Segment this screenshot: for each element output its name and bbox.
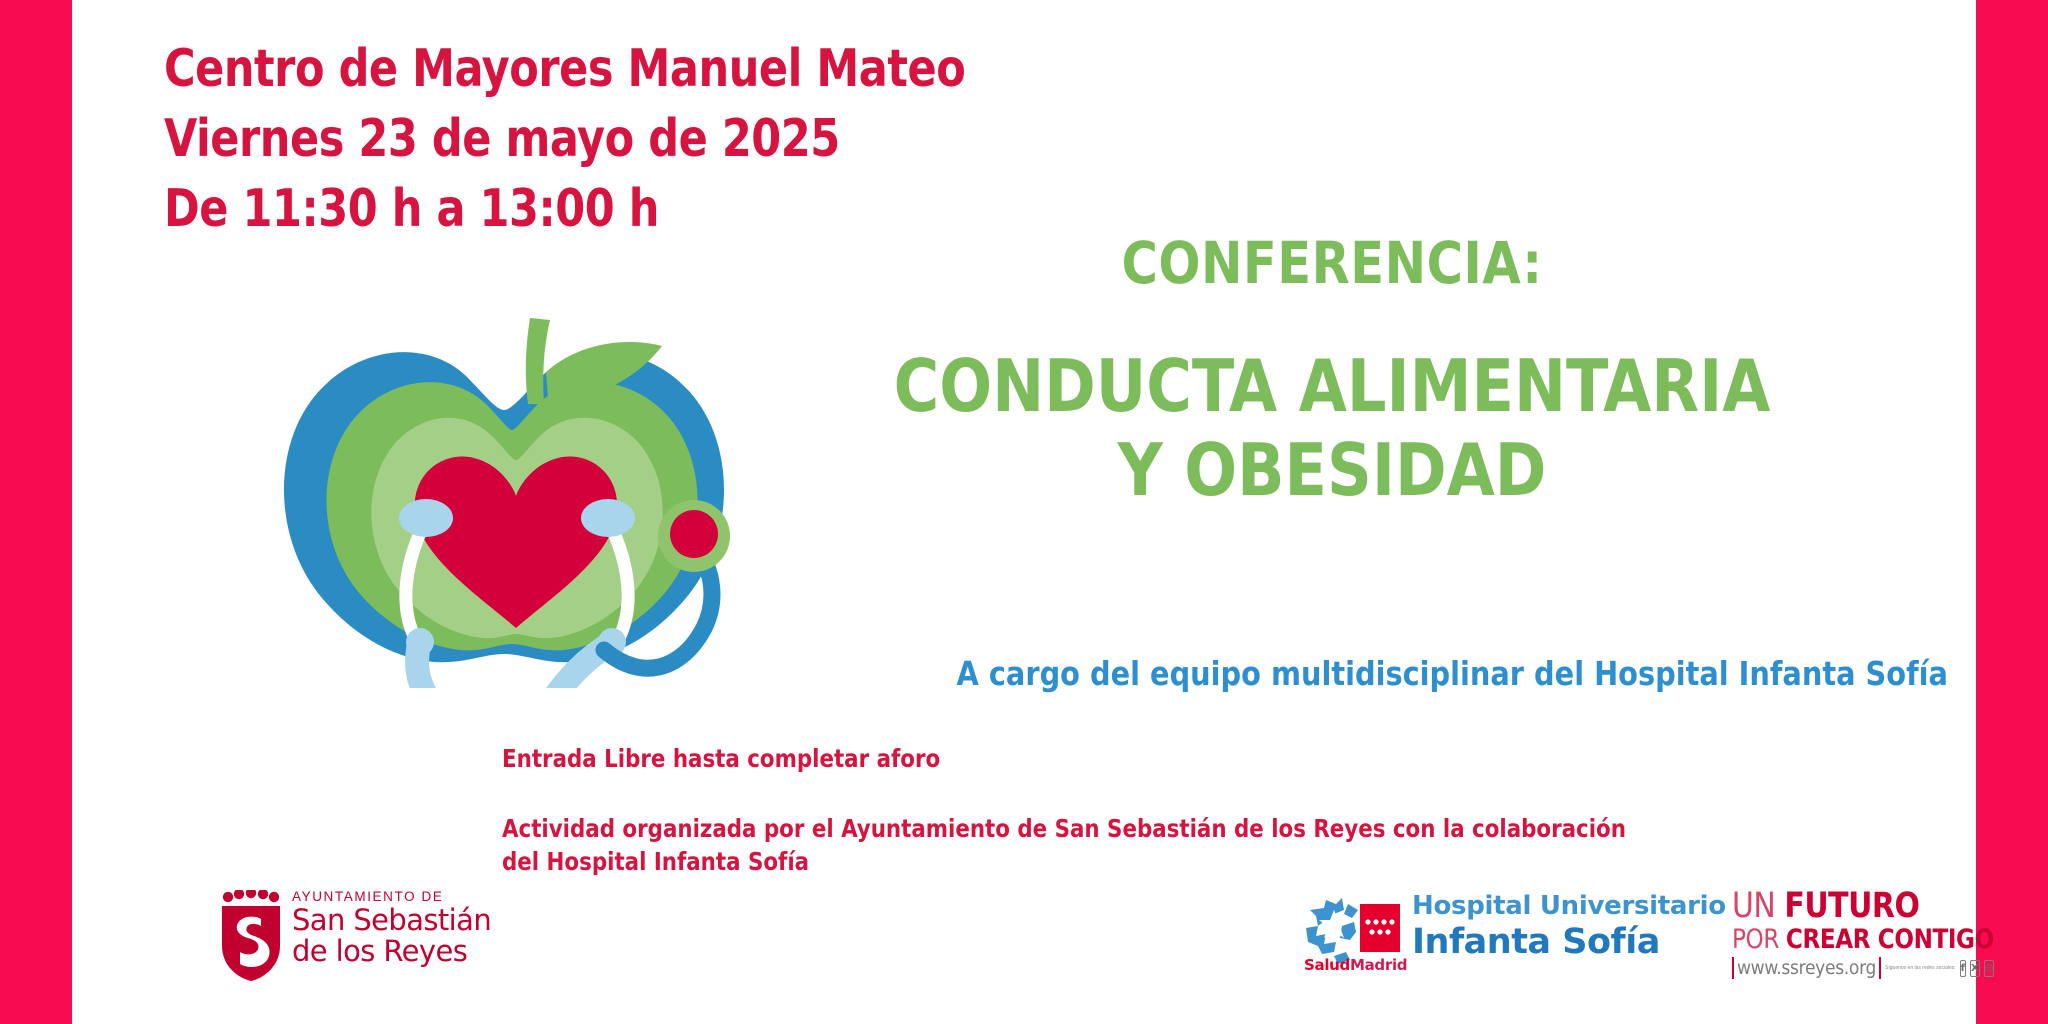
ssreyes-shield-icon xyxy=(220,890,282,982)
apple-heart-stethoscope-logo xyxy=(212,268,772,688)
conference-byline: A cargo del equipo multidisciplinar del … xyxy=(571,654,1978,694)
salud-text: Salud xyxy=(1304,956,1350,974)
headline-date: Viernes 23 de mayo de 2025 xyxy=(164,104,1176,174)
ssreyes-wordmark: AYUNTAMIENTO DE San Sebastián de los Rey… xyxy=(292,888,492,967)
futuro-por-text: POR xyxy=(1732,924,1779,955)
x-twitter-icon[interactable]: X xyxy=(1970,960,1980,977)
conference-title-line1: CONDUCTA ALIMENTARIA xyxy=(718,344,1947,428)
hospital-line2: Infanta Sofía xyxy=(1412,922,1726,962)
chestpiece-center xyxy=(670,510,718,558)
hospital-line1: Hospital Universitario xyxy=(1412,890,1726,922)
event-notes: Entrada Libre hasta completar aforo Acti… xyxy=(502,742,1922,878)
futuro-row1: UN FUTURO xyxy=(1732,888,1951,925)
futuro-row2: POR CREAR CONTIGO xyxy=(1732,925,1951,955)
right-accent-band xyxy=(1976,0,2048,1024)
left-accent-band xyxy=(0,0,72,1024)
conference-kicker: CONFERENCIA: xyxy=(724,228,1940,298)
futuro-url-row: www.ssreyes.org Síguenos en las redes so… xyxy=(1732,957,1962,979)
ssreyes-name-line2: de los Reyes xyxy=(292,936,492,967)
hospital-infanta-sofia-logo: SaludMadrid Hospital Universitario Infan… xyxy=(1304,886,1634,982)
poster-root: Centro de Mayores Manuel Mateo Viernes 2… xyxy=(0,0,2048,1024)
tube-joint-left xyxy=(406,628,434,656)
instagram-icon[interactable]: ◎ xyxy=(1984,960,1995,977)
headline-venue: Centro de Mayores Manuel Mateo xyxy=(164,34,1176,104)
futuro-un-text: UN xyxy=(1732,886,1775,926)
ssreyes-name-line1: San Sebastián xyxy=(292,905,492,936)
earpiece-left xyxy=(399,499,453,537)
note-free-entry: Entrada Libre hasta completar aforo xyxy=(502,742,1851,775)
poster-canvas: Centro de Mayores Manuel Mateo Viernes 2… xyxy=(72,0,1976,1024)
social-caption: Síguenos en las redes sociales: xyxy=(1885,965,1956,971)
ayuntamiento-ssreyes-logo: AYUNTAMIENTO DE San Sebastián de los Rey… xyxy=(220,884,490,988)
madrid-text: Madrid xyxy=(1350,956,1407,974)
earpiece-right xyxy=(581,499,635,537)
saludmadrid-wordmark: SaludMadrid xyxy=(1304,956,1407,974)
futuro-futuro-text: FUTURO xyxy=(1784,886,1919,926)
conference-title-line2: Y OBESIDAD xyxy=(718,428,1947,512)
facebook-icon[interactable]: f xyxy=(1960,960,1966,977)
note-organizer-line2: del Hospital Infanta Sofía xyxy=(502,845,1851,878)
ssreyes-url[interactable]: www.ssreyes.org xyxy=(1732,957,1881,979)
conference-title-block: CONFERENCIA: CONDUCTA ALIMENTARIA Y OBES… xyxy=(692,228,1972,512)
hospital-wordmark: Hospital Universitario Infanta Sofía xyxy=(1412,890,1726,962)
event-headline: Centro de Mayores Manuel Mateo Viernes 2… xyxy=(164,34,1264,244)
futuro-crear-contigo-text: CREAR CONTIGO xyxy=(1786,924,1994,955)
note-organizer-line1: Actividad organizada por el Ayuntamiento… xyxy=(502,812,1851,845)
un-futuro-logo: UN FUTURO POR CREAR CONTIGO www.ssreyes.… xyxy=(1732,888,1962,984)
